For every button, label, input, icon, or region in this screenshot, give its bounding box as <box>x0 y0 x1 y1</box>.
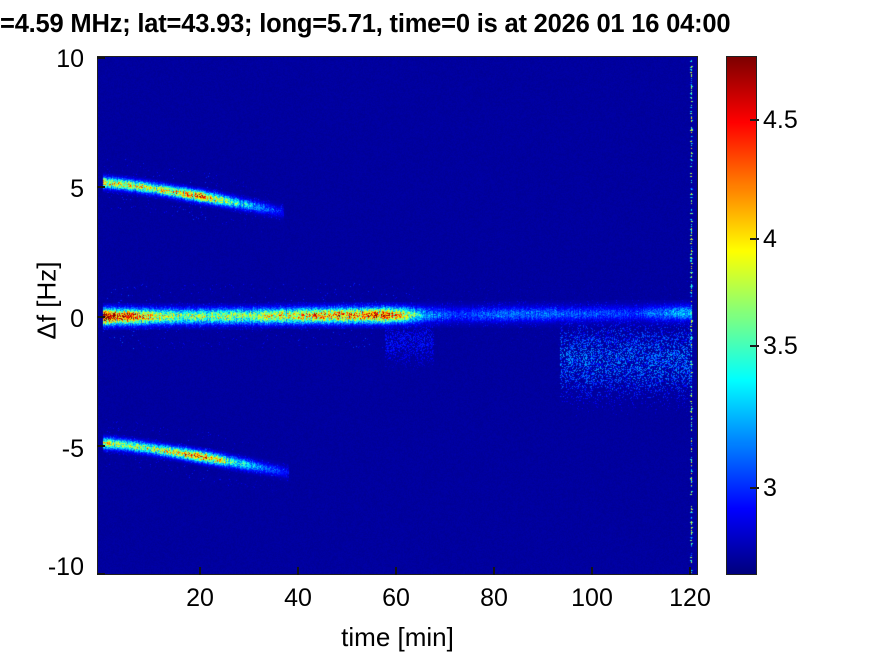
page-title: =4.59 MHz; lat=43.93; long=5.71, time=0 … <box>0 8 875 40</box>
x-axis-label: time [min] <box>97 622 698 653</box>
ytick-label-neg10: -10 <box>0 555 84 580</box>
xtick-label-40: 40 <box>258 586 338 611</box>
colorbar[interactable] <box>726 56 757 575</box>
xtick-mark-60 <box>395 567 397 575</box>
ytick-label-10: 10 <box>0 47 84 72</box>
colorbar-label-3: 3 <box>763 476 853 501</box>
xtick-label-80: 80 <box>454 586 534 611</box>
ytick-mark-5 <box>97 186 105 188</box>
y-axis-label: Δf [Hz] <box>32 151 63 451</box>
colorbar-tick-mark-4_5 <box>750 119 759 121</box>
colorbar-tick-mark-3 <box>750 487 759 489</box>
xtick-label-120: 120 <box>650 586 730 611</box>
xtick-mark-80 <box>493 567 495 575</box>
colorbar-tick-mark-3_5 <box>750 345 759 347</box>
colorbar-tick-mark-4 <box>750 238 759 240</box>
xtick-label-100: 100 <box>552 586 632 611</box>
spectrogram-image <box>98 57 697 574</box>
xtick-label-20: 20 <box>160 586 240 611</box>
colorbar-label-4: 4 <box>763 227 853 252</box>
xtick-mark-20 <box>199 567 201 575</box>
xtick-mark-120 <box>689 567 691 575</box>
ytick-mark-0 <box>97 316 105 318</box>
ytick-mark-neg10 <box>97 573 105 575</box>
colorbar-label-3_5: 3.5 <box>763 334 853 359</box>
ytick-mark-10 <box>97 57 105 59</box>
colorbar-gradient <box>727 57 756 574</box>
xtick-mark-40 <box>297 567 299 575</box>
xtick-label-60: 60 <box>356 586 436 611</box>
ytick-mark-neg5 <box>97 445 105 447</box>
colorbar-label-4_5: 4.5 <box>763 108 853 133</box>
spectrogram-axes[interactable] <box>97 56 698 575</box>
xtick-mark-100 <box>591 567 593 575</box>
